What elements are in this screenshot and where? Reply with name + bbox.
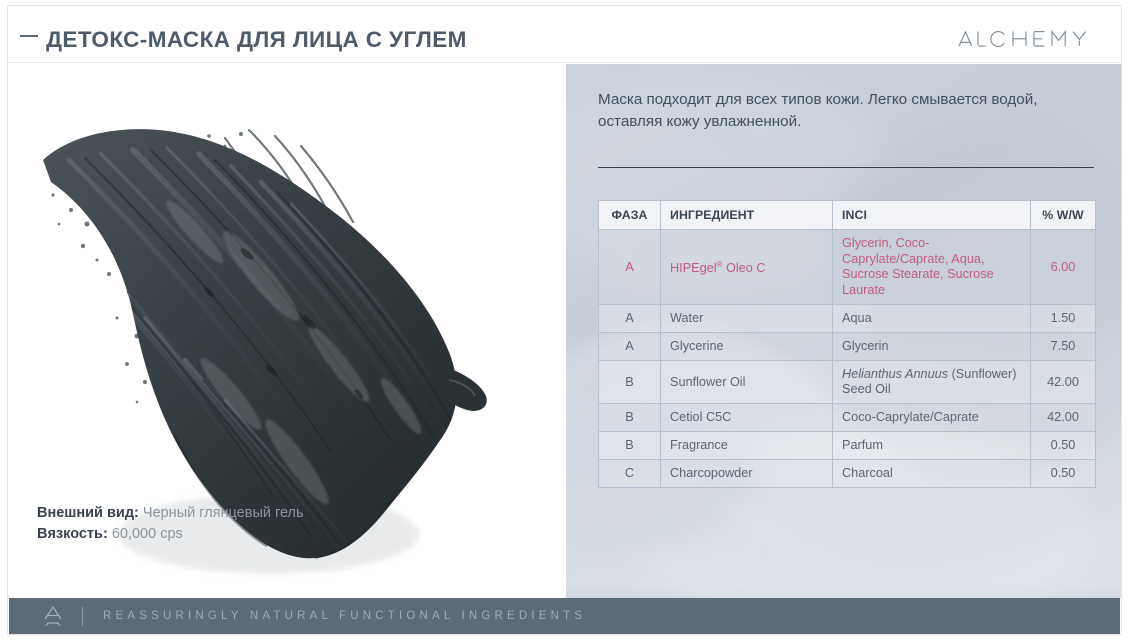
cell-inci: Coco-Caprylate/Caprate [833,404,1031,432]
table-row: A HIPEgel® Oleo C Glycerin, Coco-Capryla… [599,230,1096,305]
product-caption: Внешний вид: Черный глянцевый гель Вязко… [37,503,304,545]
cell-phase: B [599,361,661,404]
table-row: A Water Aqua 1.50 [599,305,1096,333]
table-row: B Sunflower Oil Helianthus Annuus (Sunfl… [599,361,1096,404]
ingredient-name: HIPEgel [670,262,717,276]
cell-percent: 6.00 [1031,230,1096,305]
appearance-value: Черный глянцевый гель [143,505,304,521]
table-row: A Glycerine Glycerin 7.50 [599,333,1096,361]
cell-inci: Glycerin [833,333,1031,361]
viscosity-line: Вязкость: 60,000 cps [37,524,304,545]
column-header-inci: INCI [833,201,1031,230]
column-header-ingredient: ИНГРЕДИЕНТ [661,201,833,230]
column-header-percent: % W/W [1031,201,1096,230]
page-title: ДЕТОКС-МАСКА ДЛЯ ЛИЦА С УГЛЕМ [46,27,467,53]
viscosity-label: Вязкость: [37,526,108,542]
cell-phase: B [599,404,661,432]
alchemy-a-mark-icon [42,604,64,628]
ingredient-name-tail: Oleo C [722,262,765,276]
table-header-row: ФАЗА ИНГРЕДИЕНТ INCI % W/W [599,201,1096,230]
cell-ingredient: Sunflower Oil [661,361,833,404]
slide-footer: REASSURINGLY NATURAL FUNCTIONAL INGREDIE… [9,598,1120,634]
slide-header: ДЕТОКС-МАСКА ДЛЯ ЛИЦА С УГЛЕМ [9,7,1120,63]
footer-tagline: REASSURINGLY NATURAL FUNCTIONAL INGREDIE… [103,610,586,622]
intro-paragraph: Маска подходит для всех типов кожи. Легк… [598,89,1048,133]
table-row: B Fragrance Parfum 0.50 [599,432,1096,460]
cell-ingredient: Cetiol C5C [661,404,833,432]
table-row: B Cetiol C5C Coco-Caprylate/Caprate 42.0… [599,404,1096,432]
cell-ingredient: Water [661,305,833,333]
cell-ingredient: Charcopowder [661,460,833,488]
em-dash-icon [20,35,38,37]
footer-divider [82,607,83,626]
cell-inci: Charcoal [833,460,1031,488]
cell-percent: 0.50 [1031,460,1096,488]
cell-inci: Parfum [833,432,1031,460]
cell-ingredient: Glycerine [661,333,833,361]
cell-inci: Aqua [833,305,1031,333]
cell-phase: C [599,460,661,488]
viscosity-value: 60,000 cps [112,526,183,542]
alchemy-brand-logo [957,28,1089,50]
cell-percent: 42.00 [1031,404,1096,432]
cell-percent: 42.00 [1031,361,1096,404]
cell-ingredient: Fragrance [661,432,833,460]
cell-percent: 1.50 [1031,305,1096,333]
cell-inci: Glycerin, Coco-Caprylate/Caprate, Aqua, … [833,230,1031,305]
appearance-line: Внешний вид: Черный глянцевый гель [37,503,304,524]
cell-phase: A [599,333,661,361]
table-row: C Charcopowder Charcoal 0.50 [599,460,1096,488]
cell-phase: A [599,305,661,333]
cell-phase: B [599,432,661,460]
product-photo-panel: Внешний вид: Черный глянцевый гель Вязко… [9,64,566,598]
formulation-table: ФАЗА ИНГРЕДИЕНТ INCI % W/W A HIPEgel® Ol… [598,200,1096,488]
cell-percent: 0.50 [1031,432,1096,460]
inci-species-name: Helianthus Annuus [842,367,948,381]
slide-root: ДЕТОКС-МАСКА ДЛЯ ЛИЦА С УГЛЕМ [0,0,1129,640]
column-header-phase: ФАЗА [599,201,661,230]
formulation-info-panel: Маска подходит для всех типов кожи. Легк… [566,64,1121,598]
cell-inci: Helianthus Annuus (Sunflower) Seed Oil [833,361,1031,404]
cell-ingredient: HIPEgel® Oleo C [661,230,833,305]
appearance-label: Внешний вид: [37,505,139,521]
cell-phase: A [599,230,661,305]
section-divider [598,167,1094,168]
cell-percent: 7.50 [1031,333,1096,361]
